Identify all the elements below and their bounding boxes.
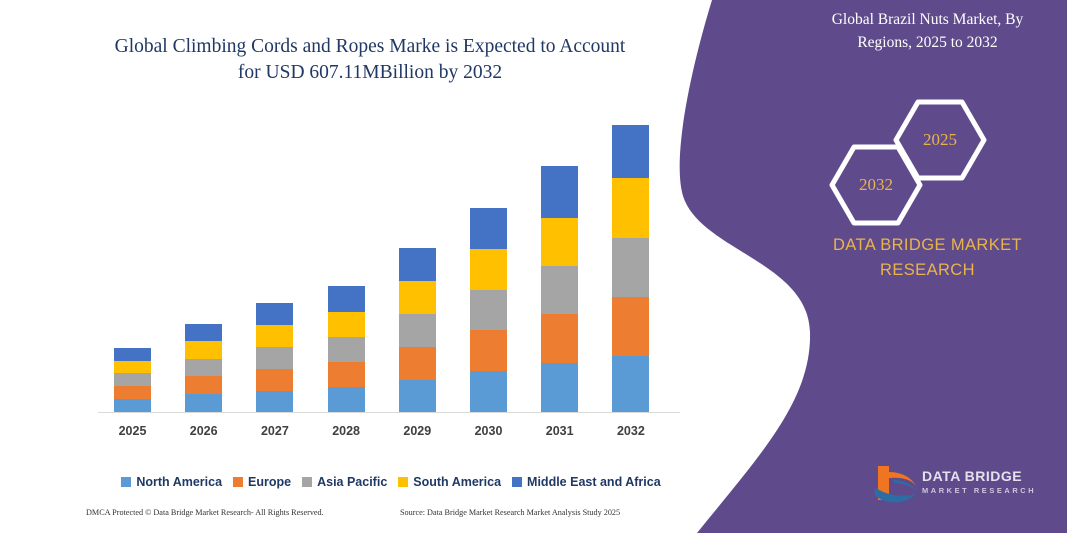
bar-segment — [541, 266, 578, 314]
bar-segment — [399, 347, 436, 379]
bar-segment — [114, 348, 151, 361]
bar-segment — [470, 249, 507, 290]
bar-segment — [612, 178, 649, 238]
bar-segment — [541, 218, 578, 266]
bar-chart-plot — [98, 110, 680, 413]
chart-legend: North AmericaEuropeAsia PacificSouth Ame… — [98, 472, 684, 492]
legend-label: Middle East and Africa — [527, 475, 661, 489]
legend-swatch-icon — [512, 477, 522, 487]
bar-segment — [114, 373, 151, 386]
panel-title: Global Brazil Nuts Market, By Regions, 2… — [800, 8, 1055, 54]
x-axis-labels: 20252026202720282029203020312032 — [98, 424, 680, 446]
bar-2031 — [541, 166, 578, 413]
infographic-canvas: Global Climbing Cords and Ropes Marke is… — [0, 0, 1067, 533]
bar-2026 — [185, 324, 222, 413]
bar-segment — [399, 281, 436, 313]
bar-segment — [185, 394, 222, 413]
bar-segment — [328, 337, 365, 362]
bar-segment — [470, 208, 507, 249]
bar-2030 — [470, 208, 507, 413]
legend-swatch-icon — [398, 477, 408, 487]
bar-segment — [256, 347, 293, 369]
bar-segment — [328, 362, 365, 387]
bar-segment — [541, 166, 578, 217]
bar-segment — [470, 371, 507, 413]
company-logo: DATA BRIDGE MARKET RESEARCH — [872, 464, 1054, 510]
bar-2025 — [114, 348, 151, 413]
legend-label: Asia Pacific — [317, 475, 387, 489]
page-title: Global Climbing Cords and Ropes Marke is… — [60, 34, 680, 86]
logo-wordmark: DATA BRIDGE MARKET RESEARCH — [922, 468, 1054, 497]
legend-label: South America — [413, 475, 501, 489]
bar-segment — [114, 361, 151, 374]
bar-segment — [185, 341, 222, 359]
brand-name-line1: DATA BRIDGE MARKET — [833, 236, 1022, 254]
x-axis-line — [98, 412, 680, 413]
bar-segment — [114, 399, 151, 413]
bar-segment — [541, 314, 578, 363]
brand-name: DATA BRIDGE MARKET RESEARCH — [800, 233, 1055, 283]
legend-swatch-icon — [121, 477, 131, 487]
bar-segment — [328, 286, 365, 312]
bar-2027 — [256, 303, 293, 413]
legend-swatch-icon — [302, 477, 312, 487]
bar-segment — [328, 387, 365, 413]
bar-segment — [114, 386, 151, 400]
panel-title-line2: Regions, 2025 to 2032 — [857, 34, 997, 51]
legend-item[interactable]: Middle East and Africa — [512, 475, 661, 489]
logo-wordmark-line1: DATA BRIDGE — [922, 468, 1054, 485]
x-axis-label-2029: 2029 — [387, 424, 447, 438]
bar-segment — [612, 356, 649, 413]
bar-segment — [185, 376, 222, 394]
hexagon-end-year-label: 2025 — [893, 99, 987, 181]
x-axis-label-2030: 2030 — [459, 424, 519, 438]
x-axis-label-2025: 2025 — [103, 424, 163, 438]
bar-segment — [328, 312, 365, 337]
legend-label: Europe — [248, 475, 291, 489]
panel-title-line1: Global Brazil Nuts Market, By — [832, 11, 1024, 28]
logo-wordmark-line2: MARKET RESEARCH — [922, 485, 1054, 497]
bar-segment — [256, 369, 293, 391]
bar-segment — [185, 324, 222, 341]
page-title-line2: for USD 607.11MBillion by 2032 — [60, 60, 680, 86]
x-axis-label-2032: 2032 — [601, 424, 661, 438]
hexagon-end-year: 2025 — [893, 99, 987, 181]
legend-item[interactable]: North America — [121, 475, 222, 489]
page-title-line1: Global Climbing Cords and Ropes Marke is… — [115, 36, 626, 57]
legend-item[interactable]: South America — [398, 475, 501, 489]
bar-2032 — [612, 125, 649, 413]
x-axis-label-2028: 2028 — [316, 424, 376, 438]
legend-item[interactable]: Asia Pacific — [302, 475, 387, 489]
bar-segment — [470, 290, 507, 331]
bar-2029 — [399, 248, 436, 413]
bar-segment — [399, 248, 436, 281]
brand-name-line2: RESEARCH — [880, 261, 975, 279]
bar-segment — [399, 314, 436, 347]
x-axis-label-2027: 2027 — [245, 424, 305, 438]
bar-segment — [256, 391, 293, 413]
legend-swatch-icon — [233, 477, 243, 487]
bar-segment — [541, 363, 578, 413]
bar-segment — [612, 238, 649, 298]
footer-copyright: DMCA Protected © Data Bridge Market Rese… — [86, 508, 324, 517]
bar-segment — [256, 325, 293, 347]
footer-source: Source: Data Bridge Market Research Mark… — [400, 508, 620, 517]
legend-label: North America — [136, 475, 222, 489]
bar-segment — [399, 380, 436, 413]
bar-segment — [612, 125, 649, 178]
bar-segment — [612, 297, 649, 356]
legend-item[interactable]: Europe — [233, 475, 291, 489]
x-axis-label-2031: 2031 — [530, 424, 590, 438]
bar-segment — [185, 359, 222, 377]
x-axis-label-2026: 2026 — [174, 424, 234, 438]
bar-2028 — [328, 286, 365, 413]
bar-segment — [256, 303, 293, 325]
logo-mark-icon — [872, 464, 920, 510]
bar-segment — [470, 330, 507, 371]
